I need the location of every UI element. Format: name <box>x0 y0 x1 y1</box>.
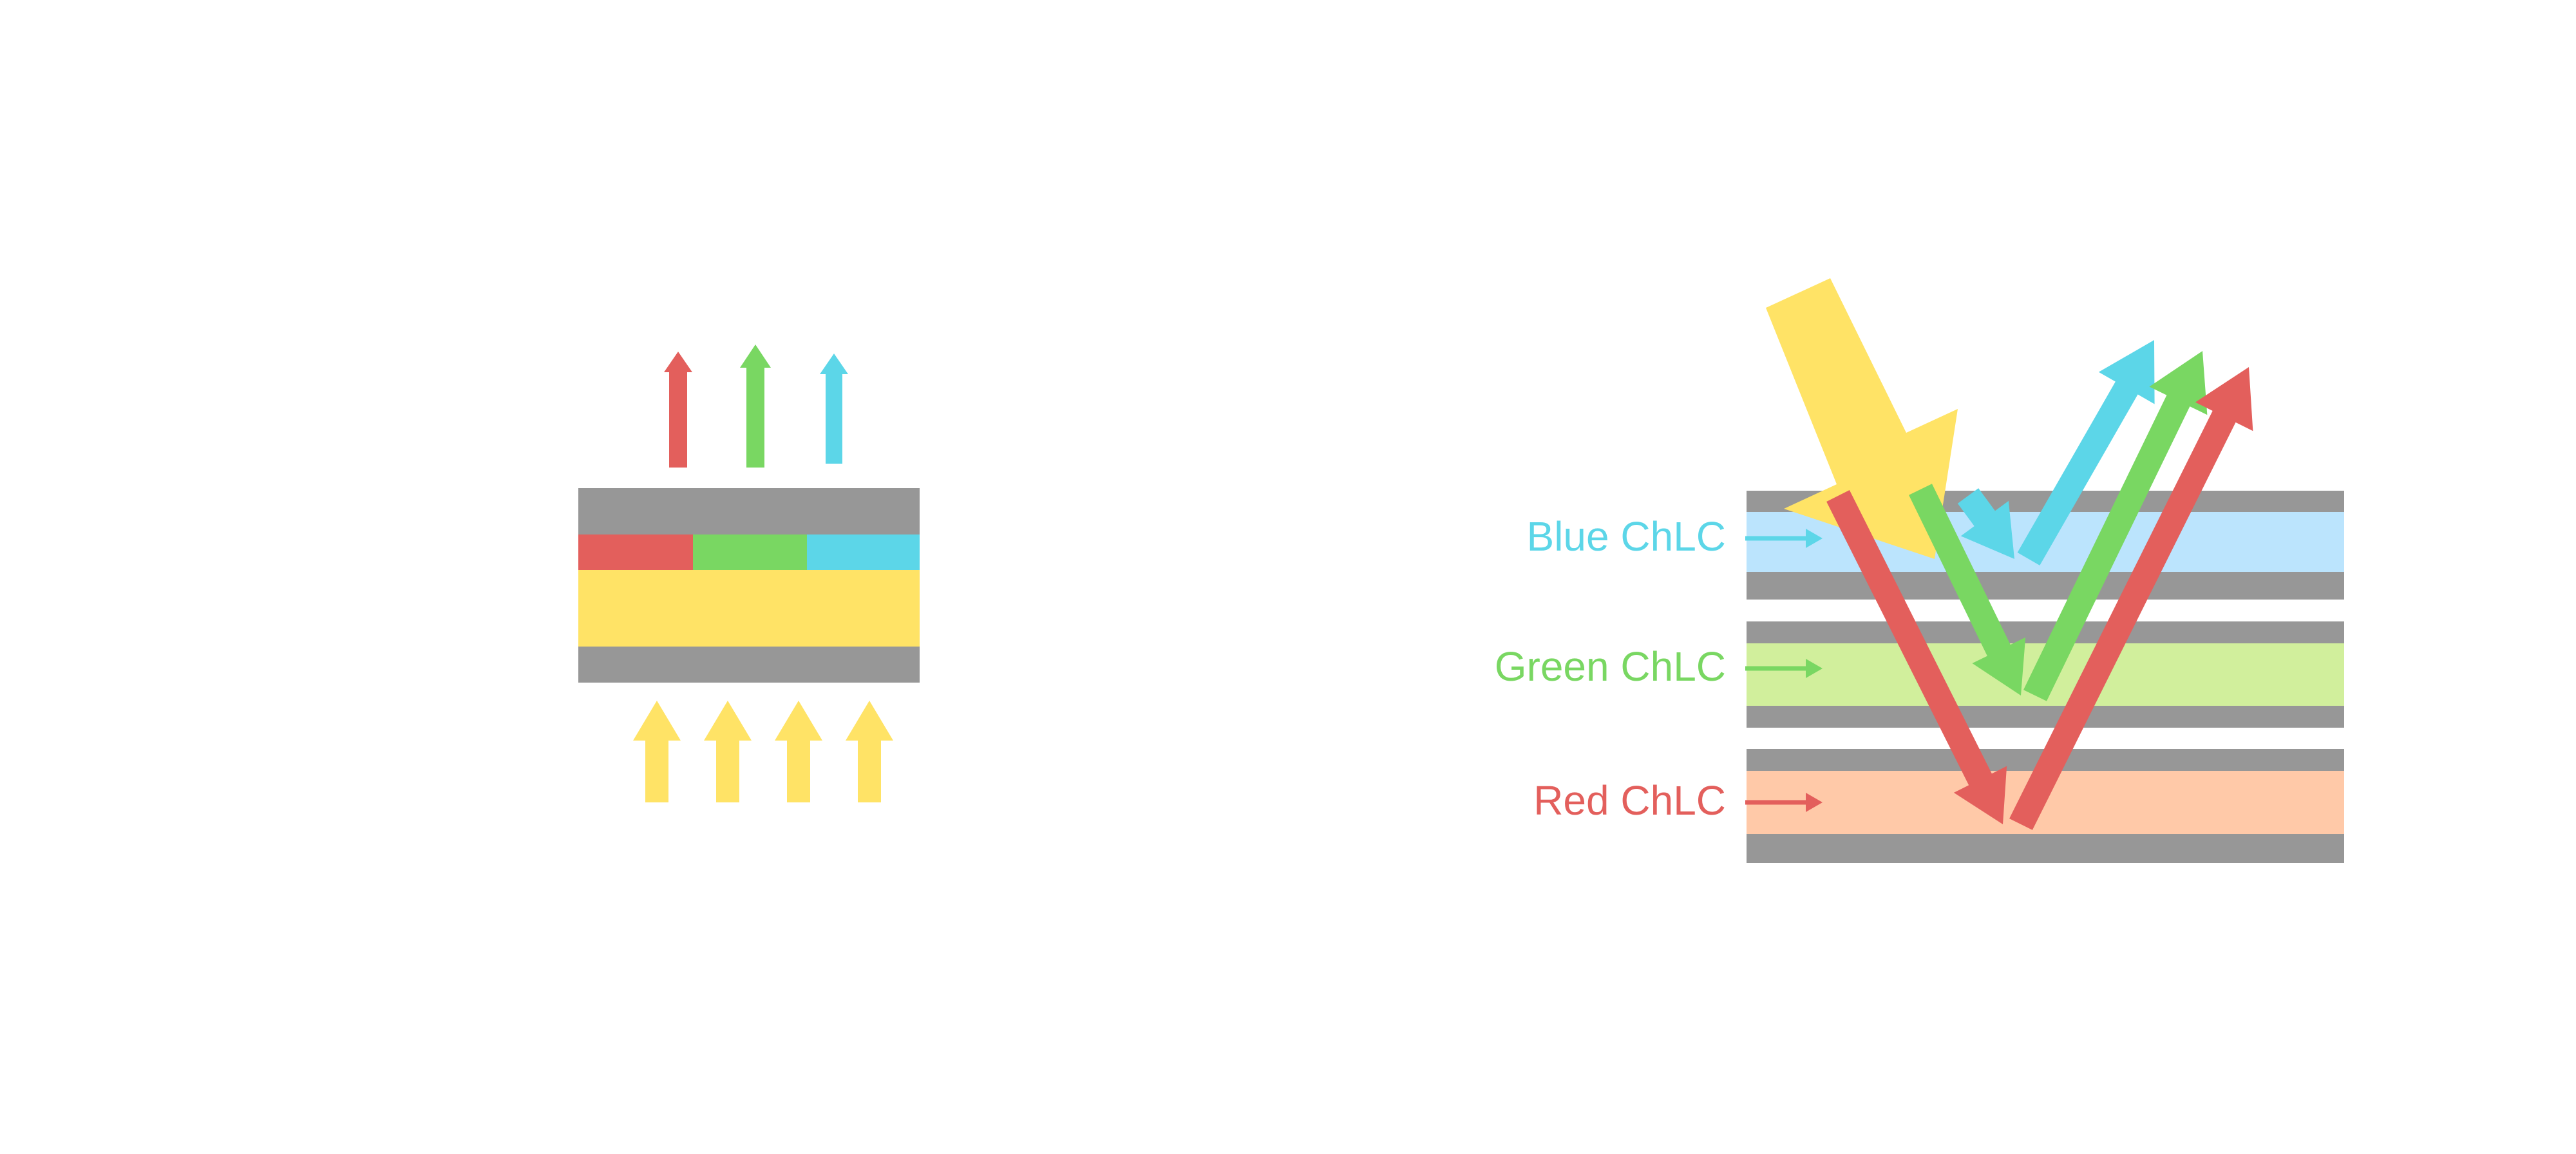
red-chlc-cell-bottom-electrode <box>1747 834 2344 863</box>
chlc-display-diagram: Blue ChLCGreen ChLCRed ChLC <box>0 0 2576 1154</box>
blue-subpixel <box>807 534 920 570</box>
top-electrode <box>578 488 920 534</box>
blue-chlc-cell-bottom-electrode <box>1747 572 2344 600</box>
blue-chlc-cell-label: Blue ChLC <box>1527 513 1727 560</box>
blue-output-arrow <box>820 354 848 464</box>
red-output-arrow <box>664 352 692 468</box>
backlight-layer <box>578 570 920 647</box>
green-chlc-cell-label: Green ChLC <box>1495 643 1726 690</box>
green-chlc-cell-top-electrode <box>1747 621 2344 643</box>
bottom-electrode <box>578 647 920 683</box>
backlight-input-arrows-4 <box>846 701 893 802</box>
diagram-canvas: Blue ChLCGreen ChLCRed ChLC <box>0 0 2576 1154</box>
red-subpixel <box>578 534 693 570</box>
green-output-arrow <box>740 345 771 468</box>
backlight-input-arrows-2 <box>704 701 752 802</box>
green-chlc-cell-bottom-electrode <box>1747 706 2344 728</box>
backlight-input-arrows-3 <box>775 701 822 802</box>
backlight-input-arrows-1 <box>633 701 681 802</box>
green-subpixel <box>693 534 807 570</box>
red-chlc-cell-label: Red ChLC <box>1533 777 1726 824</box>
